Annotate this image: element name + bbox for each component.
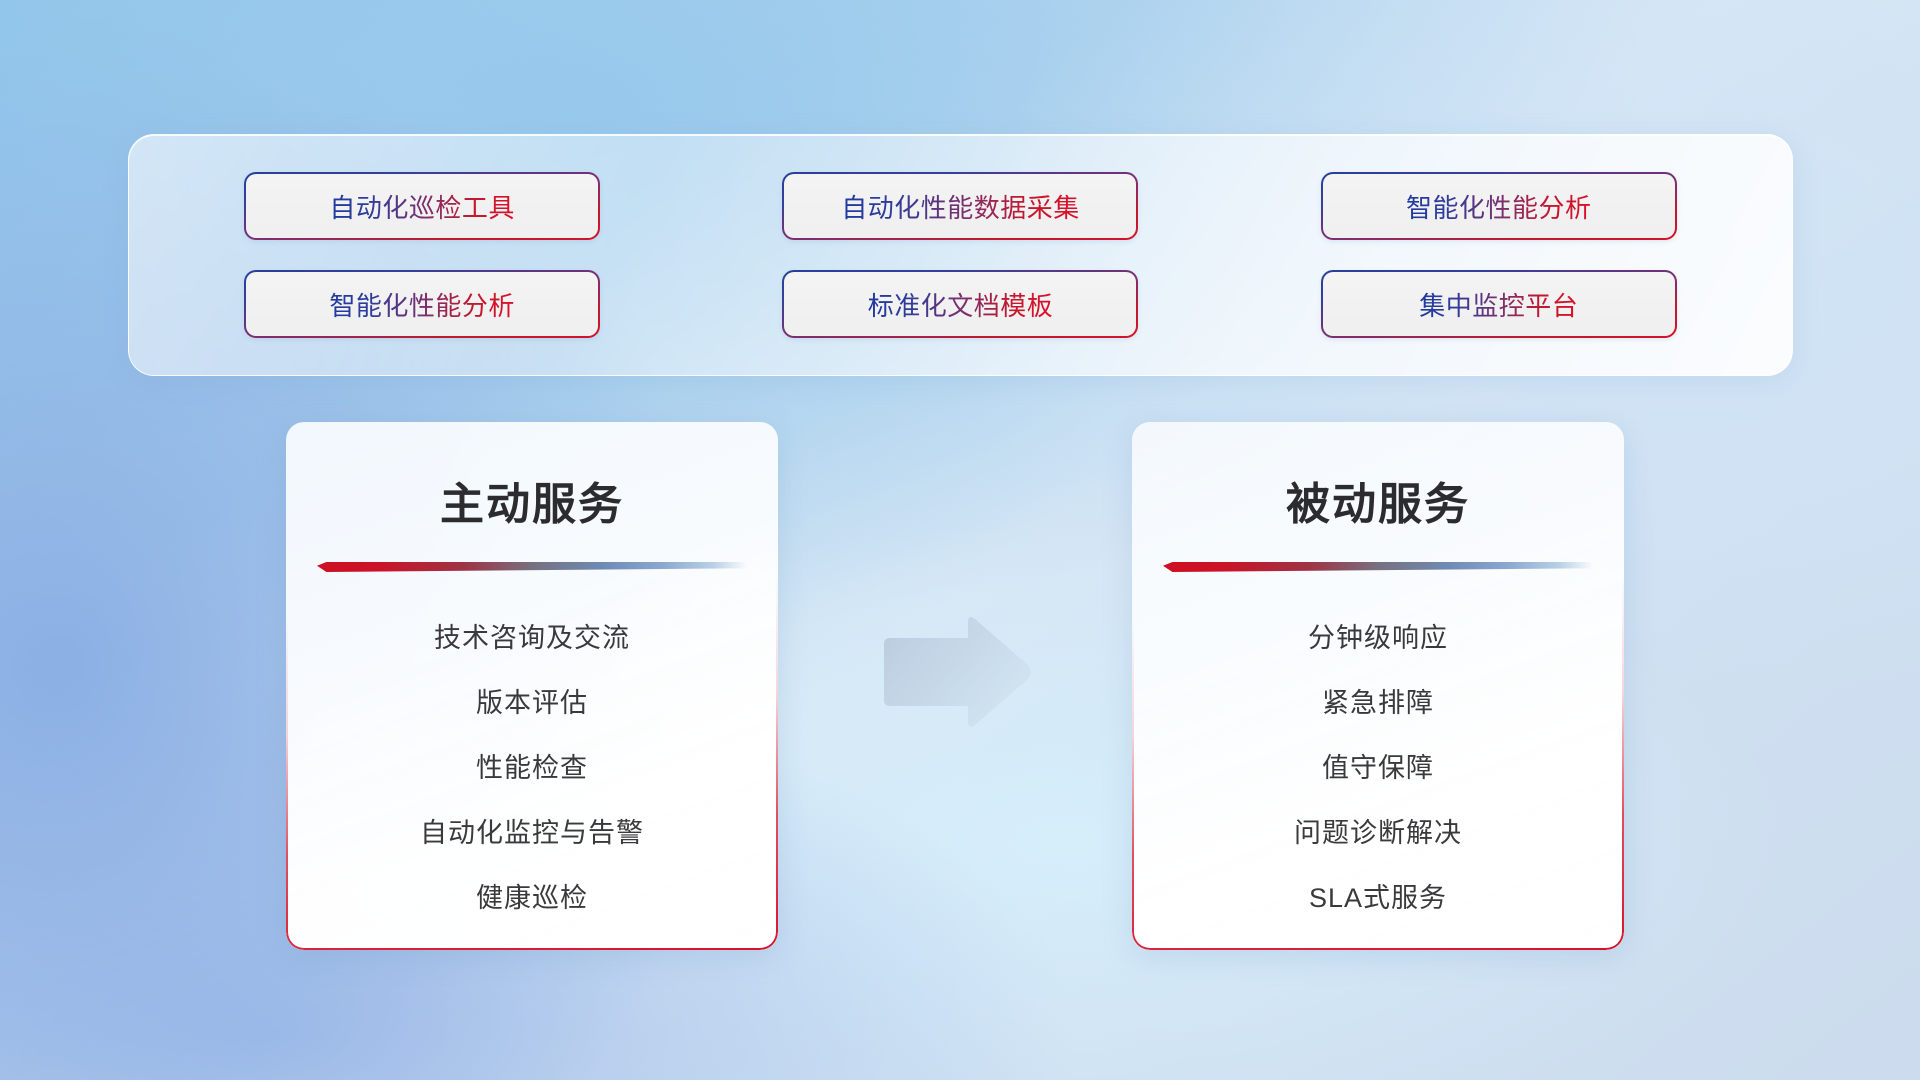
capability-tag-1[interactable]: 自动化巡检工具: [244, 172, 600, 240]
list-item: 技术咨询及交流: [434, 616, 630, 655]
list-item: 版本评估: [476, 681, 588, 720]
list-item: 健康巡检: [476, 876, 588, 915]
capability-tag-label: 集中监控平台: [1419, 286, 1578, 323]
list-item: 紧急排障: [1322, 681, 1434, 720]
card-divider: [1163, 562, 1593, 572]
service-card-passive: 被动服务 分钟级响应 紧急排障 值守保障 问题诊断解决 SLA式服务: [1132, 422, 1624, 950]
list-item: 值守保障: [1322, 746, 1434, 785]
card-title-active: 主动服务: [286, 468, 778, 532]
capability-tag-label: 智能化性能分析: [329, 286, 515, 323]
capability-tags-grid: 自动化巡检工具 自动化性能数据采集 智能化性能分析 智能化性能分析 标准化文档模…: [129, 135, 1792, 375]
card-divider: [317, 562, 747, 572]
flow-arrow-right-icon: [876, 612, 1036, 732]
list-item: SLA式服务: [1309, 876, 1447, 915]
capability-tags-panel: 自动化巡检工具 自动化性能数据采集 智能化性能分析 智能化性能分析 标准化文档模…: [128, 134, 1793, 376]
capability-tag-4[interactable]: 智能化性能分析: [244, 270, 600, 338]
list-item: 性能检查: [476, 746, 588, 785]
capability-tag-5[interactable]: 标准化文档模板: [782, 270, 1138, 338]
list-item: 自动化监控与告警: [420, 811, 644, 850]
card-title-passive: 被动服务: [1132, 468, 1624, 532]
list-item: 问题诊断解决: [1294, 811, 1462, 850]
capability-tag-2[interactable]: 自动化性能数据采集: [782, 172, 1138, 240]
capability-tag-6[interactable]: 集中监控平台: [1321, 270, 1677, 338]
capability-tag-label: 自动化性能数据采集: [841, 188, 1080, 225]
service-list-active: 技术咨询及交流 版本评估 性能检查 自动化监控与告警 健康巡检: [286, 616, 778, 915]
card-divider-bar: [317, 562, 747, 572]
slide-canvas: 自动化巡检工具 自动化性能数据采集 智能化性能分析 智能化性能分析 标准化文档模…: [0, 0, 1920, 1080]
capability-tag-3[interactable]: 智能化性能分析: [1321, 172, 1677, 240]
list-item: 分钟级响应: [1308, 616, 1448, 655]
capability-tag-label: 标准化文档模板: [868, 286, 1054, 323]
capability-tag-label: 智能化性能分析: [1406, 188, 1592, 225]
card-divider-bar: [1163, 562, 1593, 572]
service-card-active: 主动服务 技术咨询及交流 版本评估 性能检查 自动化监控与告警 健康巡检: [286, 422, 778, 950]
service-list-passive: 分钟级响应 紧急排障 值守保障 问题诊断解决 SLA式服务: [1132, 616, 1624, 915]
capability-tag-label: 自动化巡检工具: [329, 188, 515, 225]
